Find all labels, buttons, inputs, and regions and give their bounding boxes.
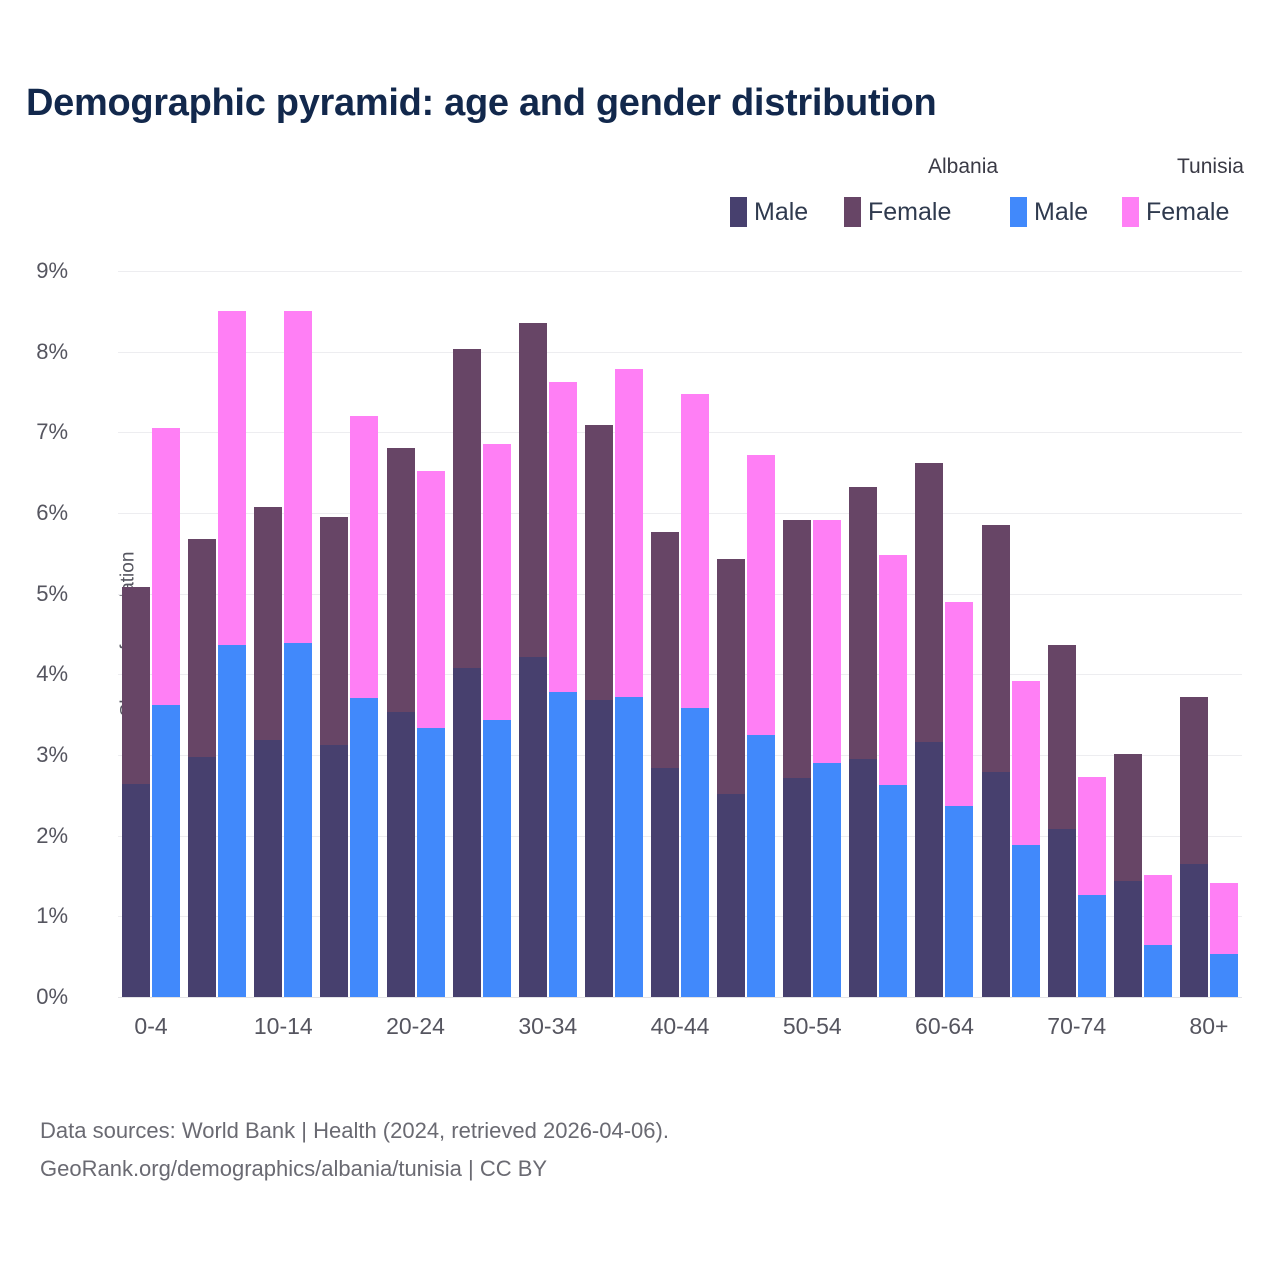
- bar-segment-female[interactable]: [188, 539, 216, 758]
- stacked-bar-tunisia[interactable]: [417, 471, 445, 997]
- stacked-bar-albania[interactable]: [1114, 754, 1142, 997]
- bar-segment-male[interactable]: [453, 668, 481, 997]
- legend-country-tunisia: Tunisia: [1177, 155, 1244, 179]
- chart-legend: Albania Tunisia MaleFemaleMaleFemale: [722, 155, 1242, 235]
- bar-segment-female[interactable]: [717, 559, 745, 794]
- x-axis-tick-label: 20-24: [386, 1013, 445, 1040]
- bar-group: [651, 271, 709, 997]
- x-axis-tick-label: 70-74: [1047, 1013, 1106, 1040]
- stacked-bar-albania[interactable]: [320, 517, 348, 997]
- bar-segment-male[interactable]: [152, 705, 180, 997]
- x-axis-tick-label: 60-64: [915, 1013, 974, 1040]
- stacked-bar-albania[interactable]: [915, 463, 943, 997]
- bar-segment-male[interactable]: [747, 735, 775, 997]
- bar-segment-female[interactable]: [519, 323, 547, 657]
- bar-segment-male[interactable]: [1180, 864, 1208, 997]
- bar-segment-female[interactable]: [915, 463, 943, 742]
- stacked-bar-albania[interactable]: [717, 559, 745, 997]
- bar-group: [717, 271, 775, 997]
- stacked-bar-albania[interactable]: [122, 587, 150, 997]
- bar-segment-male[interactable]: [519, 657, 547, 997]
- bar-segment-female[interactable]: [453, 349, 481, 668]
- bar-segment-female[interactable]: [879, 555, 907, 785]
- stacked-bar-albania[interactable]: [783, 520, 811, 997]
- stacked-bar-albania[interactable]: [519, 323, 547, 997]
- y-axis-tick-label: 0%: [0, 984, 68, 1010]
- bar-segment-male[interactable]: [879, 785, 907, 997]
- chart-footer: Data sources: World Bank | Health (2024,…: [40, 1112, 1140, 1188]
- bar-segment-female[interactable]: [615, 369, 643, 697]
- bar-segment-male[interactable]: [122, 784, 150, 997]
- bar-segment-female[interactable]: [1078, 777, 1106, 895]
- bar-segment-male[interactable]: [585, 700, 613, 997]
- y-axis-tick-label: 8%: [0, 339, 68, 365]
- bar-segment-female[interactable]: [982, 525, 1010, 772]
- y-axis-tick-label: 9%: [0, 258, 68, 284]
- bar-segment-female[interactable]: [1210, 883, 1238, 954]
- legend-item-label: Male: [754, 200, 808, 225]
- stacked-bar-albania[interactable]: [585, 425, 613, 997]
- bar-group: [1048, 271, 1106, 997]
- y-axis-tick-label: 1%: [0, 903, 68, 929]
- bar-group: [982, 271, 1040, 997]
- bar-segment-male[interactable]: [813, 763, 841, 997]
- bar-segment-female[interactable]: [783, 520, 811, 778]
- bar-group: [519, 271, 577, 997]
- stacked-bar-tunisia[interactable]: [813, 520, 841, 997]
- legend-item-3[interactable]: Female: [1122, 197, 1229, 227]
- legend-item-label: Male: [1034, 200, 1088, 225]
- bar-segment-female[interactable]: [483, 444, 511, 719]
- legend-swatch-icon: [730, 197, 747, 227]
- bar-segment-male[interactable]: [1048, 829, 1076, 997]
- bar-segment-female[interactable]: [152, 428, 180, 705]
- bar-segment-male[interactable]: [1012, 845, 1040, 997]
- legend-swatch-icon: [844, 197, 861, 227]
- bar-segment-male[interactable]: [783, 778, 811, 997]
- bar-segment-male[interactable]: [945, 806, 973, 997]
- stacked-bar-tunisia[interactable]: [1012, 681, 1040, 997]
- bar-group: [783, 271, 841, 997]
- bar-segment-female[interactable]: [417, 471, 445, 728]
- y-axis-tick-label: 4%: [0, 661, 68, 687]
- plot-area: Share of population 0%1%2%3%4%5%6%7%8%9%…: [118, 271, 1242, 997]
- stacked-bar-albania[interactable]: [387, 448, 415, 997]
- bar-segment-male[interactable]: [651, 768, 679, 997]
- legend-item-1[interactable]: Female: [844, 197, 951, 227]
- bar-segment-male[interactable]: [218, 645, 246, 997]
- stacked-bar-tunisia[interactable]: [615, 369, 643, 997]
- bar-segment-female[interactable]: [1048, 645, 1076, 829]
- legend-swatch-icon: [1122, 197, 1139, 227]
- bar-segment-male[interactable]: [717, 794, 745, 997]
- x-axis-tick-label: 40-44: [651, 1013, 710, 1040]
- legend-country-headers: Albania Tunisia: [722, 155, 1242, 185]
- bar-segment-male[interactable]: [849, 759, 877, 997]
- bar-segment-female[interactable]: [585, 425, 613, 700]
- legend-item-2[interactable]: Male: [1010, 197, 1088, 227]
- bar-segment-female[interactable]: [284, 311, 312, 643]
- bar-segment-male[interactable]: [1210, 954, 1238, 997]
- stacked-bar-tunisia[interactable]: [879, 555, 907, 997]
- footer-attribution: GeoRank.org/demographics/albania/tunisia…: [40, 1150, 1140, 1188]
- legend-items: MaleFemaleMaleFemale: [722, 197, 1242, 229]
- bar-segment-female[interactable]: [549, 382, 577, 693]
- bar-segment-female[interactable]: [320, 517, 348, 745]
- bar-segment-female[interactable]: [945, 602, 973, 806]
- bar-group: [122, 271, 180, 997]
- x-axis-tick-label: 10-14: [254, 1013, 313, 1040]
- stacked-bar-tunisia[interactable]: [681, 394, 709, 997]
- bar-segment-female[interactable]: [350, 416, 378, 698]
- bar-segment-male[interactable]: [387, 712, 415, 997]
- bar-segment-female[interactable]: [1144, 875, 1172, 945]
- legend-item-0[interactable]: Male: [730, 197, 808, 227]
- stacked-bar-tunisia[interactable]: [1078, 777, 1106, 997]
- bar-segment-female[interactable]: [747, 455, 775, 735]
- bar-segment-female[interactable]: [813, 520, 841, 763]
- stacked-bar-albania[interactable]: [849, 487, 877, 997]
- legend-item-label: Female: [868, 200, 951, 225]
- stacked-bar-tunisia[interactable]: [350, 416, 378, 997]
- bar-segment-male[interactable]: [483, 720, 511, 997]
- bar-segment-male[interactable]: [1114, 881, 1142, 997]
- bar-segment-male[interactable]: [320, 745, 348, 997]
- bar-group: [320, 271, 378, 997]
- bar-segment-male[interactable]: [1144, 945, 1172, 997]
- bar-segment-male[interactable]: [350, 698, 378, 997]
- bar-group: [254, 271, 312, 997]
- bar-group: [1180, 271, 1238, 997]
- bar-segment-female[interactable]: [849, 487, 877, 759]
- bar-segment-female[interactable]: [254, 507, 282, 740]
- y-axis-tick-label: 7%: [0, 419, 68, 445]
- stacked-bar-tunisia[interactable]: [1210, 883, 1238, 997]
- stacked-bar-tunisia[interactable]: [218, 311, 246, 997]
- stacked-bar-albania[interactable]: [254, 507, 282, 997]
- bar-segment-male[interactable]: [1078, 895, 1106, 997]
- bar-segment-male[interactable]: [549, 692, 577, 997]
- legend-country-albania: Albania: [928, 155, 998, 179]
- bar-group: [915, 271, 973, 997]
- bar-group: [585, 271, 643, 997]
- y-axis-tick-label: 6%: [0, 500, 68, 526]
- bar-segment-male[interactable]: [982, 772, 1010, 997]
- stacked-bar-albania[interactable]: [188, 539, 216, 997]
- footer-data-sources: Data sources: World Bank | Health (2024,…: [40, 1112, 1140, 1150]
- stacked-bar-tunisia[interactable]: [1144, 875, 1172, 997]
- x-axis-tick-label: 50-54: [783, 1013, 842, 1040]
- bar-segment-female[interactable]: [681, 394, 709, 708]
- bar-group: [453, 271, 511, 997]
- y-axis-tick-label: 2%: [0, 823, 68, 849]
- bar-segment-male[interactable]: [188, 757, 216, 997]
- x-axis-tick-label: 0-4: [134, 1013, 167, 1040]
- bar-segment-female[interactable]: [387, 448, 415, 713]
- stacked-bar-albania[interactable]: [1048, 645, 1076, 997]
- stacked-bar-albania[interactable]: [651, 532, 679, 997]
- x-axis-tick-label: 80+: [1189, 1013, 1228, 1040]
- stacked-bar-albania[interactable]: [982, 525, 1010, 997]
- bar-segment-female[interactable]: [651, 532, 679, 768]
- bar-segment-male[interactable]: [615, 697, 643, 997]
- bar-segment-male[interactable]: [284, 643, 312, 997]
- stacked-bar-tunisia[interactable]: [747, 455, 775, 997]
- bar-segment-female[interactable]: [122, 587, 150, 784]
- y-axis-tick-label: 5%: [0, 581, 68, 607]
- stacked-bar-tunisia[interactable]: [945, 602, 973, 997]
- axis-baseline: [118, 997, 1242, 998]
- bar-segment-female[interactable]: [218, 311, 246, 645]
- bar-group: [387, 271, 445, 997]
- x-axis-tick-label: 30-34: [518, 1013, 577, 1040]
- stacked-bar-albania[interactable]: [1180, 697, 1208, 997]
- stacked-bar-tunisia[interactable]: [549, 382, 577, 997]
- bar-segment-male[interactable]: [915, 742, 943, 997]
- y-axis-tick-label: 3%: [0, 742, 68, 768]
- legend-swatch-icon: [1010, 197, 1027, 227]
- stacked-bar-tunisia[interactable]: [483, 444, 511, 997]
- legend-item-label: Female: [1146, 200, 1229, 225]
- bar-segment-male[interactable]: [681, 708, 709, 997]
- bar-group: [1114, 271, 1172, 997]
- demographic-pyramid-chart: Demographic pyramid: age and gender dist…: [0, 0, 1280, 1280]
- bar-segment-male[interactable]: [417, 728, 445, 997]
- bar-group: [849, 271, 907, 997]
- stacked-bar-tunisia[interactable]: [152, 428, 180, 998]
- stacked-bar-albania[interactable]: [453, 349, 481, 997]
- bar-segment-female[interactable]: [1114, 754, 1142, 881]
- bar-segment-female[interactable]: [1180, 697, 1208, 864]
- chart-title: Demographic pyramid: age and gender dist…: [26, 82, 936, 125]
- bar-segment-male[interactable]: [254, 740, 282, 997]
- bar-segment-female[interactable]: [1012, 681, 1040, 846]
- stacked-bar-tunisia[interactable]: [284, 311, 312, 997]
- bar-group: [188, 271, 246, 997]
